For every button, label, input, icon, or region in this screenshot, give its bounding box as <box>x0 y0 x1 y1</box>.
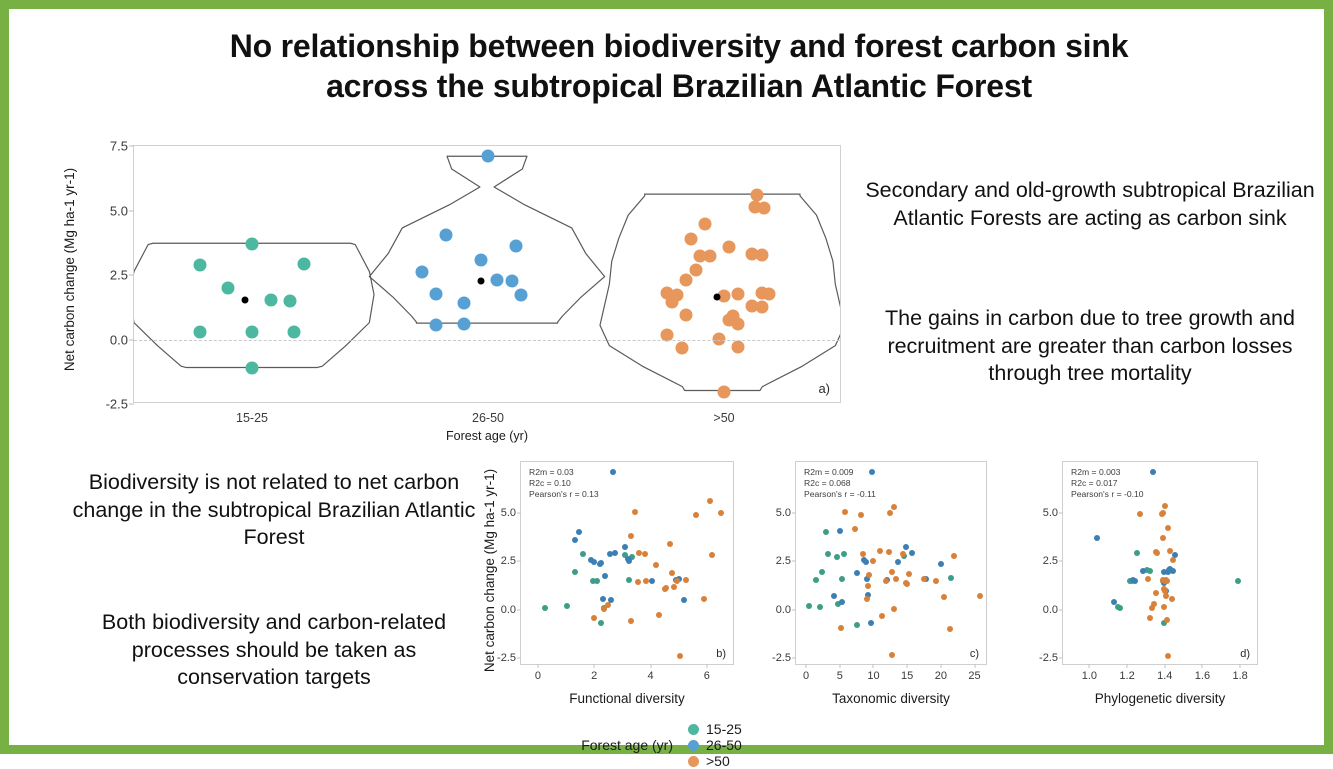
scatter-data-point <box>906 571 912 577</box>
violin-outline-15-25 <box>134 243 374 367</box>
x-tick-mark <box>1202 664 1203 668</box>
scatter-data-point <box>1147 615 1153 621</box>
x-tick-mark <box>537 664 538 668</box>
violin-data-point <box>732 317 745 330</box>
violin-data-point <box>458 296 471 309</box>
panel-c-x-tick-label: 15 <box>901 670 913 682</box>
scatter-data-point <box>903 544 909 550</box>
scatter-data-point <box>1167 548 1173 554</box>
scatter-data-point <box>1169 596 1175 602</box>
scatter-data-point <box>938 561 944 567</box>
scatter-data-point <box>564 603 570 609</box>
scatter-data-point <box>1094 535 1100 541</box>
y-tick-mark <box>517 512 521 513</box>
scatter-data-point <box>1137 511 1143 517</box>
small-panels-y-axis-label: Net carbon change (Mg ha-1 yr-1) <box>479 461 501 679</box>
panel-d-x-axis-label: Phylogenetic diversity <box>1062 691 1258 706</box>
scatter-data-point <box>572 537 578 543</box>
scatter-data-point <box>635 579 641 585</box>
violin-data-point <box>482 150 495 163</box>
x-tick-mark <box>594 664 595 668</box>
panel-a-y-tick-mark <box>129 146 134 147</box>
panel-b-x-axis-label: Functional diversity <box>520 691 734 706</box>
violin-data-point <box>699 217 712 230</box>
scatter-data-point <box>1170 557 1176 563</box>
violin-data-point <box>288 325 301 338</box>
y-tick-mark <box>1059 609 1063 610</box>
group-mean-marker <box>713 293 720 300</box>
scatter-data-point <box>842 509 848 515</box>
scatter-data-point <box>841 551 847 557</box>
scatter-data-point <box>718 510 724 516</box>
scatter-data-point <box>542 605 548 611</box>
scatter-data-point <box>1145 576 1151 582</box>
scatter-data-point <box>591 615 597 621</box>
legend-item-15-25: 15-25 <box>688 721 742 737</box>
panel-d-x-tick-label: 1.6 <box>1195 670 1210 682</box>
violin-data-point <box>762 287 775 300</box>
scatter-data-point <box>1132 578 1138 584</box>
scatter-data-point <box>819 569 825 575</box>
panel-a-y-axis-label: Net carbon change (Mg ha-1 yr-1) <box>59 137 81 402</box>
scatter-data-point <box>838 625 844 631</box>
violin-data-point <box>755 301 768 314</box>
scatter-data-point <box>683 577 689 583</box>
panel-tag: d) <box>1240 648 1250 660</box>
title-line-1: No relationship between biodiversity and… <box>89 27 1269 67</box>
legend-item-label: 26-50 <box>706 737 742 753</box>
scatter-data-point <box>825 551 831 557</box>
scatter-data-point <box>667 541 673 547</box>
panel-tag: b) <box>716 648 726 660</box>
legend-color-swatch <box>688 740 699 751</box>
violin-data-point <box>491 273 504 286</box>
violin-data-point <box>194 259 207 272</box>
violin-data-point <box>222 282 235 295</box>
x-tick-mark <box>1164 664 1165 668</box>
legend: Forest age (yr) 15-2526-50>50 <box>9 721 1324 769</box>
violin-data-point <box>755 248 768 261</box>
scatter-data-point <box>977 593 983 599</box>
scatter-data-point <box>1165 525 1171 531</box>
panel-d-plot-area: R2m = 0.003 R2c = 0.017 Pearson's r = -0… <box>1062 461 1258 665</box>
finding-text-carbon-sink: Secondary and old-growth subtropical Bra… <box>855 177 1325 232</box>
scatter-data-point <box>1134 550 1140 556</box>
scatter-data-point <box>632 509 638 515</box>
scatter-data-point <box>831 593 837 599</box>
scatter-data-point <box>1159 511 1165 517</box>
panel-c-x-tick-label: 20 <box>935 670 947 682</box>
violin-data-point <box>458 318 471 331</box>
zero-reference-line <box>134 340 840 341</box>
scatter-data-point <box>1140 568 1146 574</box>
violin-data-point <box>439 229 452 242</box>
panel-d-x-tick-label: 1.2 <box>1119 670 1134 682</box>
panel-c-x-tick-label: 10 <box>867 670 879 682</box>
x-tick-mark <box>1127 664 1128 668</box>
violin-data-point <box>732 288 745 301</box>
x-tick-mark <box>940 664 941 668</box>
scatter-data-point <box>886 549 892 555</box>
panel-a-x-axis-label: Forest age (yr) <box>133 429 841 443</box>
scatter-data-point <box>891 606 897 612</box>
scatter-data-point <box>1117 605 1123 611</box>
panel-a-y-tick-mark <box>129 404 134 405</box>
y-tick-mark <box>792 658 796 659</box>
scatter-data-point <box>834 554 840 560</box>
violin-data-point <box>415 265 428 278</box>
panel-b-x-tick-label: 0 <box>535 670 541 682</box>
scatter-data-point <box>663 585 669 591</box>
y-tick-mark <box>517 561 521 562</box>
scatter-data-point <box>1165 569 1171 575</box>
violin-outlines <box>134 146 840 402</box>
panel-a-y-tick-mark <box>129 210 134 211</box>
violin-data-point <box>680 274 693 287</box>
legend-item-26-50: 26-50 <box>688 737 742 753</box>
legend-item-label: 15-25 <box>706 721 742 737</box>
scatter-data-point <box>879 613 885 619</box>
scatter-data-point <box>839 576 845 582</box>
panel-a-x-tick-label: 15-25 <box>236 411 268 425</box>
scatter-data-point <box>900 551 906 557</box>
group-mean-marker <box>477 278 484 285</box>
x-tick-mark <box>806 664 807 668</box>
scatter-data-point <box>1153 590 1159 596</box>
scatter-data-point <box>813 577 819 583</box>
scatter-data-point <box>1111 599 1117 605</box>
scatter-data-point <box>681 597 687 603</box>
scatter-data-point <box>1162 503 1168 509</box>
scatter-data-point <box>895 559 901 565</box>
x-tick-mark <box>873 664 874 668</box>
scatter-data-point <box>1149 605 1155 611</box>
violin-data-point <box>515 289 528 302</box>
violin-data-point <box>684 232 697 245</box>
scatter-data-point <box>1147 568 1153 574</box>
violin-data-point <box>264 293 277 306</box>
scatter-data-point <box>653 562 659 568</box>
panel-a-plot-area: a) -2.50.02.55.07.515-2526-50>50 <box>133 145 841 403</box>
panel-c-x-tick-label: 25 <box>968 670 980 682</box>
violin-data-point <box>722 240 735 253</box>
violin-data-point <box>703 249 716 262</box>
violin-data-point <box>246 326 259 339</box>
scatter-data-point <box>865 583 871 589</box>
scatter-data-point <box>1160 535 1166 541</box>
legend-item-label: >50 <box>706 753 730 769</box>
scatter-data-point <box>869 469 875 475</box>
x-tick-mark <box>1089 664 1090 668</box>
scatter-data-point <box>1164 617 1170 623</box>
scatter-data-point <box>671 584 677 590</box>
panel-c-plot-area: R2m = 0.009 R2c = 0.068 Pearson's r = -0… <box>795 461 987 665</box>
page-title: No relationship between biodiversity and… <box>89 27 1269 106</box>
scatter-data-point <box>622 544 628 550</box>
scatter-data-point <box>854 622 860 628</box>
panel-a-x-tick-label: 26-50 <box>472 411 504 425</box>
scatter-data-point <box>860 551 866 557</box>
scatter-data-point <box>866 572 872 578</box>
panel-b-x-tick-label: 2 <box>591 670 597 682</box>
scatter-data-point <box>893 576 899 582</box>
poster-inner: No relationship between biodiversity and… <box>9 9 1324 745</box>
y-tick-mark <box>792 609 796 610</box>
scatter-data-point <box>948 575 954 581</box>
group-mean-marker <box>241 296 248 303</box>
scatter-data-point <box>806 603 812 609</box>
scatter-data-point <box>1154 550 1160 556</box>
panel-d-statistics: R2m = 0.003 R2c = 0.017 Pearson's r = -0… <box>1071 467 1144 500</box>
scatter-data-point <box>626 558 632 564</box>
scatter-data-point <box>839 599 845 605</box>
scatter-data-point <box>817 604 823 610</box>
scatter-data-point <box>1164 578 1170 584</box>
x-tick-mark <box>907 664 908 668</box>
violin-data-point <box>732 340 745 353</box>
scatter-data-point <box>1163 593 1169 599</box>
scatter-data-point <box>628 533 634 539</box>
finding-text-carbon-gains: The gains in carbon due to tree growth a… <box>855 305 1325 388</box>
scatter-data-point <box>889 652 895 658</box>
x-tick-mark <box>839 664 840 668</box>
y-tick-mark <box>792 512 796 513</box>
panel-a-tag: a) <box>818 381 830 396</box>
scatter-data-point <box>858 512 864 518</box>
legend-items: 15-2526-50>50 <box>688 721 752 769</box>
scatter-data-point <box>863 559 869 565</box>
violin-data-point <box>430 318 443 331</box>
scatter-data-point <box>628 618 634 624</box>
y-tick-mark <box>1059 512 1063 513</box>
scatter-data-point <box>602 573 608 579</box>
violin-outline-26-50 <box>369 156 604 323</box>
finding-text-conservation: Both biodiversity and carbon-related pro… <box>69 609 479 692</box>
scatter-data-point <box>709 552 715 558</box>
violin-data-point <box>246 238 259 251</box>
scatter-chart-panel-b: R2m = 0.03 R2c = 0.10 Pearson's r = 0.13… <box>520 461 734 711</box>
panel-c-x-axis-label: Taxonomic diversity <box>795 691 987 706</box>
scatter-data-point <box>580 551 586 557</box>
scatter-data-point <box>594 578 600 584</box>
x-tick-mark <box>974 664 975 668</box>
scatter-data-point <box>598 560 604 566</box>
violin-data-point <box>474 253 487 266</box>
scatter-data-point <box>864 596 870 602</box>
violin-data-point <box>751 188 764 201</box>
scatter-data-point <box>701 596 707 602</box>
legend-color-swatch <box>688 724 699 735</box>
scatter-data-point <box>601 606 607 612</box>
scatter-data-point <box>693 512 699 518</box>
scatter-data-point <box>1165 653 1171 659</box>
panel-b-statistics: R2m = 0.03 R2c = 0.10 Pearson's r = 0.13 <box>529 467 599 500</box>
scatter-data-point <box>870 558 876 564</box>
violin-data-point <box>194 325 207 338</box>
y-tick-mark <box>1059 561 1063 562</box>
legend-color-swatch <box>688 756 699 767</box>
scatter-data-point <box>1235 578 1241 584</box>
scatter-data-point <box>933 578 939 584</box>
scatter-data-point <box>576 529 582 535</box>
panel-b-x-tick-label: 6 <box>704 670 710 682</box>
scatter-data-point <box>909 550 915 556</box>
scatter-data-point <box>951 553 957 559</box>
panel-c-x-tick-label: 5 <box>837 670 843 682</box>
scatter-data-point <box>1161 604 1167 610</box>
panel-d-x-tick-label: 1.4 <box>1157 670 1172 682</box>
violin-data-point <box>675 341 688 354</box>
scatter-data-point <box>1150 469 1156 475</box>
y-tick-mark <box>1059 658 1063 659</box>
violin-data-point <box>430 287 443 300</box>
panel-c-x-tick-label: 0 <box>803 670 809 682</box>
scatter-data-point <box>891 504 897 510</box>
scatter-data-point <box>854 570 860 576</box>
scatter-data-point <box>642 551 648 557</box>
panel-d-x-tick-label: 1.8 <box>1232 670 1247 682</box>
violin-data-point <box>680 308 693 321</box>
scatter-chart-panel-d: R2m = 0.003 R2c = 0.017 Pearson's r = -0… <box>1062 461 1258 711</box>
scatter-data-point <box>649 578 655 584</box>
violin-data-point <box>297 258 310 271</box>
scatter-data-point <box>626 577 632 583</box>
scatter-data-point <box>600 596 606 602</box>
scatter-data-point <box>889 569 895 575</box>
panel-b-x-tick-label: 4 <box>647 670 653 682</box>
scatter-data-point <box>610 469 616 475</box>
scatter-data-point <box>656 612 662 618</box>
panel-c-statistics: R2m = 0.009 R2c = 0.068 Pearson's r = -0… <box>804 467 876 500</box>
y-tick-mark <box>792 561 796 562</box>
panel-d-x-tick-label: 1.0 <box>1082 670 1097 682</box>
violin-data-point <box>283 294 296 307</box>
x-tick-mark <box>1240 664 1241 668</box>
y-tick-mark <box>517 658 521 659</box>
scatter-data-point <box>837 528 843 534</box>
x-tick-mark <box>650 664 651 668</box>
scatter-data-point <box>852 526 858 532</box>
scatter-data-point <box>643 578 649 584</box>
scatter-data-point <box>887 510 893 516</box>
scatter-data-point <box>598 620 604 626</box>
title-line-2: across the subtropical Brazilian Atlanti… <box>89 67 1269 107</box>
violin-data-point <box>666 296 679 309</box>
finding-text-biodiversity: Biodiversity is not related to net carbo… <box>69 469 479 552</box>
scatter-data-point <box>677 653 683 659</box>
panel-tag: c) <box>970 648 979 660</box>
violin-data-point <box>246 362 259 375</box>
legend-title: Forest age (yr) <box>581 737 673 753</box>
violin-chart-panel-a: Net carbon change (Mg ha-1 yr-1) a) -2.5… <box>61 137 851 427</box>
scatter-data-point <box>669 570 675 576</box>
panel-b-plot-area: R2m = 0.03 R2c = 0.10 Pearson's r = 0.13… <box>520 461 734 665</box>
violin-data-point <box>510 240 523 253</box>
poster-root: No relationship between biodiversity and… <box>0 0 1333 754</box>
scatter-data-point <box>868 620 874 626</box>
y-tick-mark <box>517 609 521 610</box>
x-tick-mark <box>706 664 707 668</box>
panel-a-x-tick-label: >50 <box>713 411 734 425</box>
scatter-chart-panel-c: R2m = 0.009 R2c = 0.068 Pearson's r = -0… <box>795 461 987 711</box>
scatter-data-point <box>947 626 953 632</box>
scatter-data-point <box>707 498 713 504</box>
scatter-data-point <box>823 529 829 535</box>
violin-data-point <box>505 274 518 287</box>
violin-data-point <box>718 386 731 399</box>
violin-data-point <box>758 201 771 214</box>
panel-a-y-tick-mark <box>129 275 134 276</box>
scatter-data-point <box>921 576 927 582</box>
scatter-data-point <box>941 594 947 600</box>
scatter-data-point <box>572 569 578 575</box>
scatter-data-point <box>903 580 909 586</box>
legend-item->50: >50 <box>688 753 742 769</box>
scatter-data-point <box>883 578 889 584</box>
scatter-data-point <box>612 550 618 556</box>
scatter-data-point <box>877 548 883 554</box>
